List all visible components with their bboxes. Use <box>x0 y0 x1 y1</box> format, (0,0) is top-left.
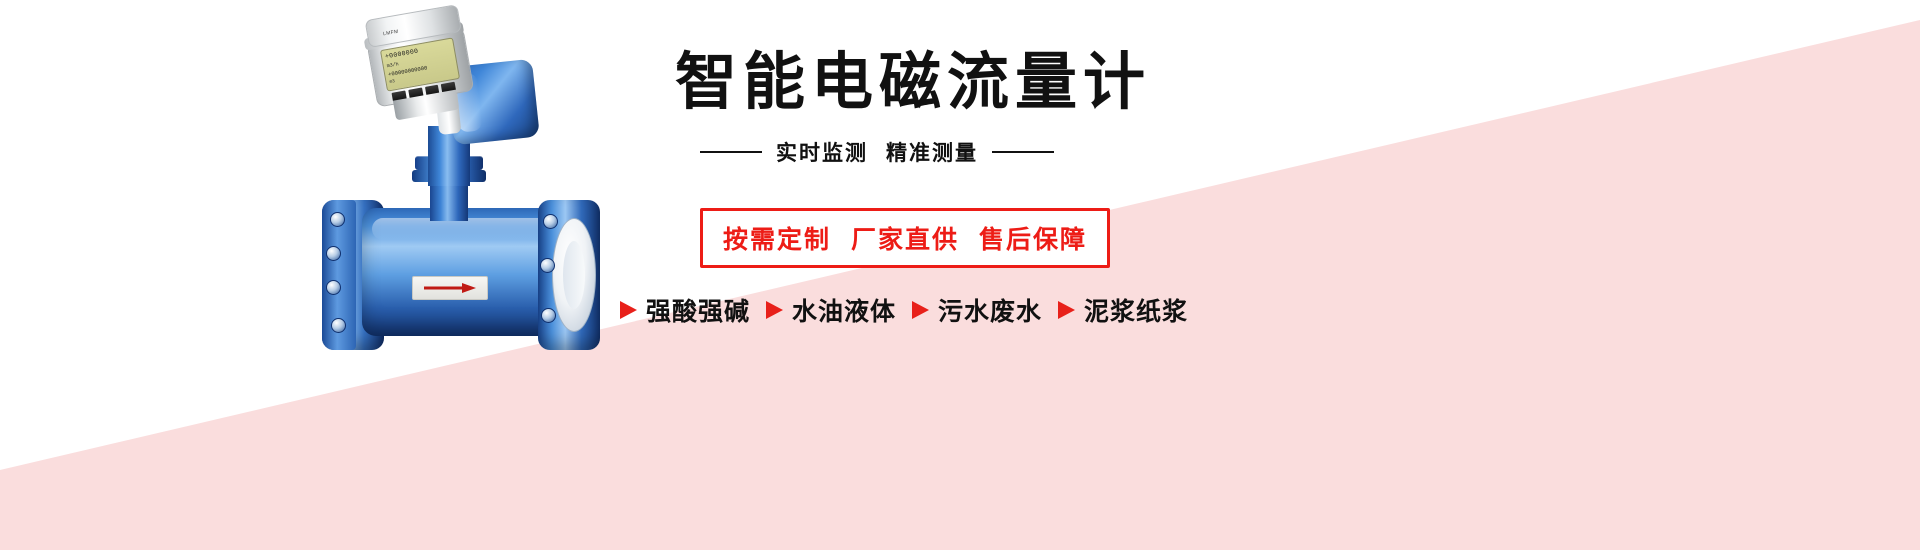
triangle-right-icon <box>766 301 783 319</box>
promo-item-1: 按需定制 <box>723 226 831 254</box>
flange-bolt <box>326 280 341 295</box>
flange-bolt <box>541 308 556 323</box>
feature-item: 水油液体 <box>766 292 896 328</box>
feature-item: 污水废水 <box>912 292 1042 328</box>
flowmeter-illustration: LMFM +0000000 m3/h +00000000000 m3 <box>300 8 630 428</box>
banner-headline: 智能电磁流量计 <box>675 52 1145 114</box>
flange-bolt <box>326 246 341 261</box>
subtitle-left-text: 实时监测 <box>776 142 868 165</box>
banner-text-block: 智能电磁流量计 实时监测精准测量 按需定制厂家直供售后保障 强酸强碱 水油液体 … <box>620 0 1320 550</box>
lcd-line-2: m3/h <box>386 61 399 69</box>
feature-label: 泥浆纸浆 <box>1084 292 1188 328</box>
promo-badge: 按需定制厂家直供售后保障 <box>700 208 1110 268</box>
right-flange-bore <box>552 218 596 332</box>
neck-lower-pipe <box>430 181 468 221</box>
flange-bolt <box>540 258 555 273</box>
feature-item: 强酸强碱 <box>620 292 750 328</box>
flange-bolt <box>330 212 345 227</box>
subtitle-rule-right <box>992 151 1054 153</box>
subtitle-rule-left <box>700 151 762 153</box>
lcd-line-1: +0000000 <box>385 48 419 61</box>
triangle-right-icon <box>912 301 929 319</box>
banner-subtitle: 实时监测精准测量 <box>776 137 978 167</box>
promo-item-3: 售后保障 <box>979 226 1087 254</box>
banner-subtitle-row: 实时监测精准测量 <box>700 135 1140 169</box>
feature-label: 水油液体 <box>792 292 896 328</box>
feature-label: 强酸强碱 <box>646 292 750 328</box>
feature-list: 强酸强碱 水油液体 污水废水 泥浆纸浆 <box>620 290 1320 330</box>
feature-label: 污水废水 <box>938 292 1042 328</box>
triangle-right-icon <box>620 301 637 319</box>
flange-bolt <box>331 318 346 333</box>
transmitter-head: LMFM +0000000 m3/h +00000000000 m3 <box>358 0 489 147</box>
triangle-right-icon <box>1058 301 1075 319</box>
lcd-line-4: m3 <box>389 79 395 85</box>
flow-direction-arrow-icon <box>412 276 488 300</box>
meter-body <box>362 208 562 336</box>
feature-item: 泥浆纸浆 <box>1058 292 1188 328</box>
promo-banner: LMFM +0000000 m3/h +00000000000 m3 智能电磁流… <box>0 0 1920 550</box>
promo-item-2: 厂家直供 <box>851 226 959 254</box>
flange-bolt <box>543 214 558 229</box>
promo-badge-text: 按需定制厂家直供售后保障 <box>723 226 1087 254</box>
subtitle-right-text: 精准测量 <box>886 142 978 165</box>
